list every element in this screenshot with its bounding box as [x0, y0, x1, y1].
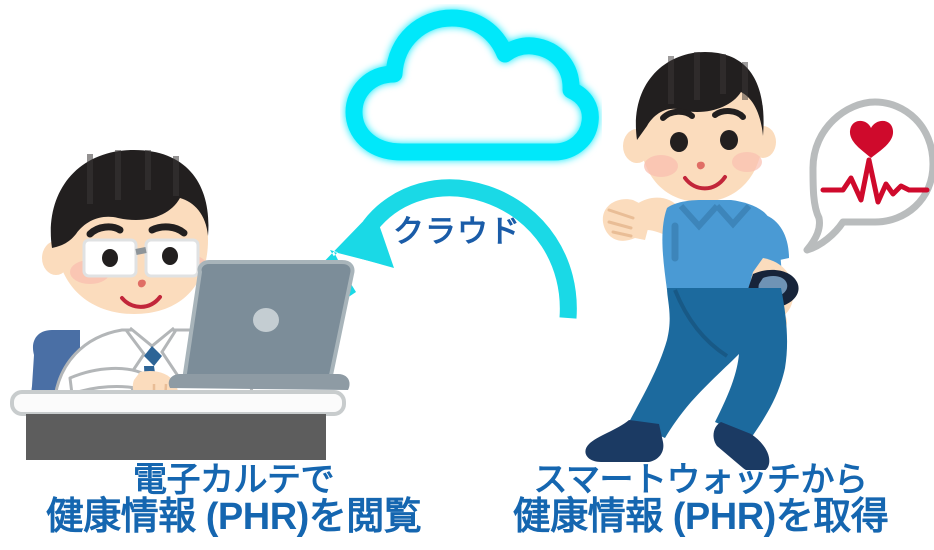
doctor-at-laptop-illustration: [0, 140, 394, 460]
right-caption: スマートウォッチから 健康情報 (PHR)を取得: [467, 463, 934, 538]
left-caption-line1: 電子カルテで: [0, 463, 467, 498]
walking-man-illustration: [575, 50, 934, 470]
right-caption-line1: スマートウォッチから: [467, 463, 934, 498]
walker-head: [623, 52, 776, 202]
doctor-head: [42, 150, 208, 314]
right-caption-line2: 健康情報 (PHR)を取得: [467, 498, 934, 538]
arrow-label: クラウド: [393, 206, 521, 251]
left-caption: 電子カルテで 健康情報 (PHR)を閲覧: [0, 463, 467, 538]
speech-bubble: [807, 102, 933, 250]
left-caption-line2: 健康情報 (PHR)を閲覧: [0, 498, 467, 538]
legs: [585, 288, 787, 470]
illustration-canvas: クラウド: [0, 0, 934, 550]
desk: [12, 392, 344, 460]
